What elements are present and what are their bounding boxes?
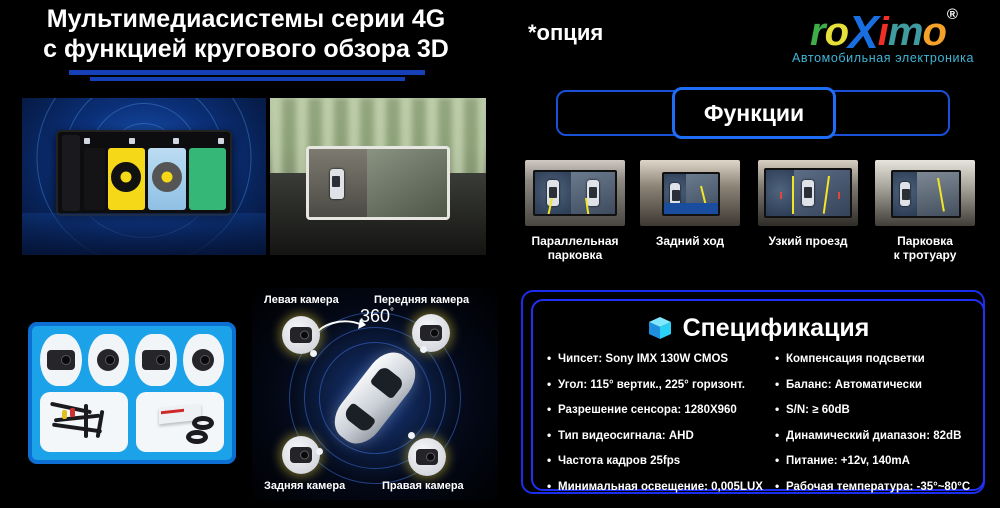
photo-reflection (22, 213, 266, 255)
camera-thumb (88, 334, 130, 386)
spec-item: Частота кадров 25fps (547, 455, 763, 468)
poster-canvas: Мультимедиасистемы серии 4G с функцией к… (0, 0, 1000, 508)
brand-logo: roXimo® Автомобильная электроника (778, 6, 988, 65)
spec-item: S/N: ≥ 60dB (775, 404, 979, 417)
brand-wordmark: roXimo® (778, 6, 988, 53)
specification-columns: Чипсет: Sony IMX 130W CMOS Угол: 115° ве… (533, 351, 983, 506)
brand-tagline: Автомобильная электроника (778, 51, 988, 65)
title-line-1: Мультимедиасистемы серии 4G (0, 4, 492, 34)
camera-lineup (40, 334, 224, 386)
specification-header: Спецификация (533, 305, 983, 351)
specification-left-column: Чипсет: Sony IMX 130W CMOS Угол: 115° ве… (547, 353, 763, 506)
spec-item: Минимальная освещение: 0,005LUX (547, 481, 763, 494)
cube-icon (647, 315, 673, 341)
feature-caption-line1: Задний ход (640, 234, 740, 248)
spec-item: Чипсет: Sony IMX 130W CMOS (547, 353, 763, 366)
logo-letter-x: X (848, 11, 878, 53)
specification-title: Спецификация (683, 314, 870, 343)
diagram-dot (420, 346, 427, 353)
feature-thumbnail-image (875, 160, 975, 226)
title-underline (0, 70, 492, 81)
feature-caption-line2: к тротуару (875, 248, 975, 262)
device-status-bar (84, 136, 224, 145)
feature-caption: Параллельная парковка (525, 234, 625, 262)
camera-coverage-diagram: 360° Левая камера Передняя камера Задняя… (252, 288, 498, 500)
diagram-label-left: Левая камера (264, 294, 339, 306)
feature-caption-line1: Параллельная (525, 234, 625, 248)
spec-item: Тип видеосигнала: AHD (547, 430, 763, 443)
functions-banner[interactable]: Функции (672, 87, 836, 139)
device-side-bar (62, 135, 80, 211)
product-photo-head-unit-ui (22, 98, 266, 255)
specification-right-column: Компенсация подсветки Баланс: Автоматиче… (763, 353, 979, 506)
diagram-dot (408, 432, 415, 439)
camera-thumb (40, 334, 82, 386)
dash-screen (306, 146, 450, 220)
logo-letter-i: i (878, 11, 888, 53)
diagram-dot (310, 350, 317, 357)
diagram-label-rear: Задняя камера (264, 480, 345, 492)
product-photo-camera-kit (28, 322, 236, 464)
feature-caption: Задний ход (640, 234, 740, 248)
degrees-value: 360 (360, 306, 390, 326)
feature-item-narrow-passage[interactable]: Узкий проезд (758, 160, 858, 248)
device-home-tiles (84, 148, 226, 210)
feature-item-reverse[interactable]: Задний ход (640, 160, 740, 248)
logo-letter-r: r (810, 11, 825, 53)
spec-item: Компенсация подсветки (775, 353, 979, 366)
feature-item-parallel-parking[interactable]: Параллельная парковка (525, 160, 625, 262)
spec-item: Динамический диапазон: 82dB (775, 430, 979, 443)
specification-panel: Спецификация Чипсет: Sony IMX 130W CMOS … (531, 299, 985, 491)
camera-thumb (183, 334, 225, 386)
diagram-label-right: Правая камера (382, 480, 464, 492)
spec-item: Баланс: Автоматически (775, 379, 979, 392)
accessories-box-photo (136, 392, 224, 452)
option-note: *опция (528, 20, 603, 46)
feature-thumbnail-image (640, 160, 740, 226)
feature-thumbnail-image (758, 160, 858, 226)
feature-item-curb-parking[interactable]: Парковка к тротуару (875, 160, 975, 262)
camera-node-front (412, 314, 450, 352)
title-line-2: с функцией кругового обзора 3D (0, 34, 492, 64)
registered-mark-icon: ® (947, 0, 957, 36)
feature-caption: Узкий проезд (758, 234, 858, 248)
head-unit-device (56, 130, 232, 216)
spec-item: Разрешение сенсора: 1280X960 (547, 404, 763, 417)
underline-bar-bottom (90, 77, 405, 81)
logo-letter-m: m (888, 11, 923, 53)
feature-caption-line1: Узкий проезд (758, 234, 858, 248)
degrees-unit: ° (390, 307, 394, 318)
page-title: Мультимедиасистемы серии 4G с функцией к… (0, 4, 492, 81)
kit-contents (40, 392, 224, 452)
underline-bar-top (69, 70, 425, 75)
product-photo-dash-360 (270, 98, 486, 255)
spec-item: Рабочая температура: -35°~80°C (775, 481, 979, 494)
feature-caption: Парковка к тротуару (875, 234, 975, 262)
diagram-dot (316, 448, 323, 455)
camera-node-right (408, 438, 446, 476)
logo-letter-o1: o (825, 11, 848, 53)
spec-item: Угол: 115° вертик., 225° горизонт. (547, 379, 763, 392)
functions-banner-label: Функции (704, 100, 804, 127)
camera-node-rear (282, 436, 320, 474)
diagram-label-front: Передняя камера (374, 294, 469, 306)
wiring-harness-photo (40, 392, 128, 452)
feature-caption-line2: парковка (525, 248, 625, 262)
feature-thumbnail-image (525, 160, 625, 226)
camera-thumb (135, 334, 177, 386)
feature-caption-line1: Парковка (875, 234, 975, 248)
spec-item: Питание: +12v, 140mA (775, 455, 979, 468)
feature-thumbnail-row: Параллельная парковка Задний ход (515, 160, 995, 270)
logo-letter-o2: o (922, 11, 945, 53)
camera-node-left (282, 316, 320, 354)
degrees-label: 360° (360, 306, 394, 327)
